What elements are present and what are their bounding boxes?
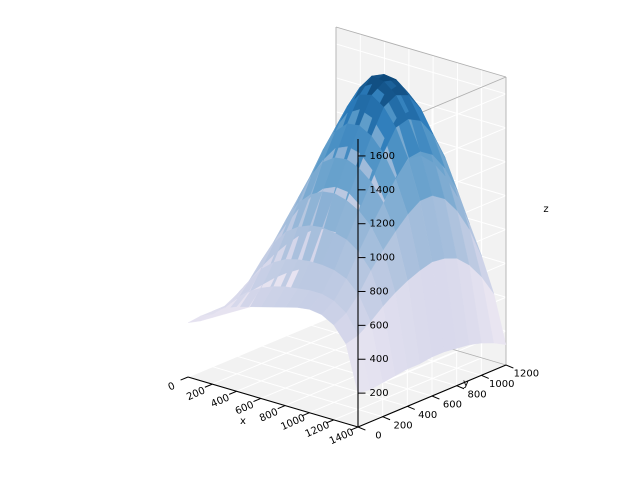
surface-plot-3d: 0200400600800100012001400020040060080010… <box>0 0 640 480</box>
axis-tick-label: 1600 <box>370 151 395 162</box>
axis-tick-label: 600 <box>443 400 462 411</box>
axis-tick-label: 600 <box>370 320 389 331</box>
axis-tick-label: 1400 <box>328 427 356 447</box>
axis-tick-label: 0 <box>375 431 381 442</box>
axis-tick-label: 400 <box>209 392 231 410</box>
axis-tickmark <box>407 406 414 409</box>
axis-tickmark <box>278 406 285 409</box>
y-axis-title: y <box>463 378 469 389</box>
axis-tick-label: 1000 <box>370 253 395 264</box>
axis-tick-label: 600 <box>234 400 256 418</box>
axis-tickmark <box>253 398 260 401</box>
z-axis-title: z <box>543 204 548 215</box>
figure-canvas: 0200400600800100012001400020040060080010… <box>0 0 640 480</box>
axis-tick-label: 0 <box>167 381 177 394</box>
axis-tickmark <box>481 375 488 378</box>
axis-tick-label: 200 <box>185 385 207 403</box>
axis-tick-label: 200 <box>394 420 413 431</box>
axis-tick-label: 800 <box>468 389 487 400</box>
axis-tick-label: 1200 <box>514 369 539 380</box>
axis-tick-label: 200 <box>370 388 389 399</box>
axis-tick-label: 400 <box>418 410 437 421</box>
x-axis-title: x <box>240 416 246 427</box>
axis-tick-label: 1400 <box>370 185 395 196</box>
axis-tickmark <box>432 396 439 399</box>
axis-tickmark <box>358 427 365 430</box>
axis-tick-label: 1200 <box>370 219 395 230</box>
axis-tick-label: 800 <box>370 286 389 297</box>
axis-tickmark <box>181 377 188 380</box>
axis-tickmark <box>383 417 390 420</box>
axis-tickmark <box>506 365 513 368</box>
axis-tick-label: 1000 <box>489 379 514 390</box>
axis-tickmark <box>205 384 212 387</box>
axis-tickmark <box>229 391 236 394</box>
axis-tick-label: 400 <box>370 354 389 365</box>
axis-tick-label: 800 <box>258 407 280 425</box>
